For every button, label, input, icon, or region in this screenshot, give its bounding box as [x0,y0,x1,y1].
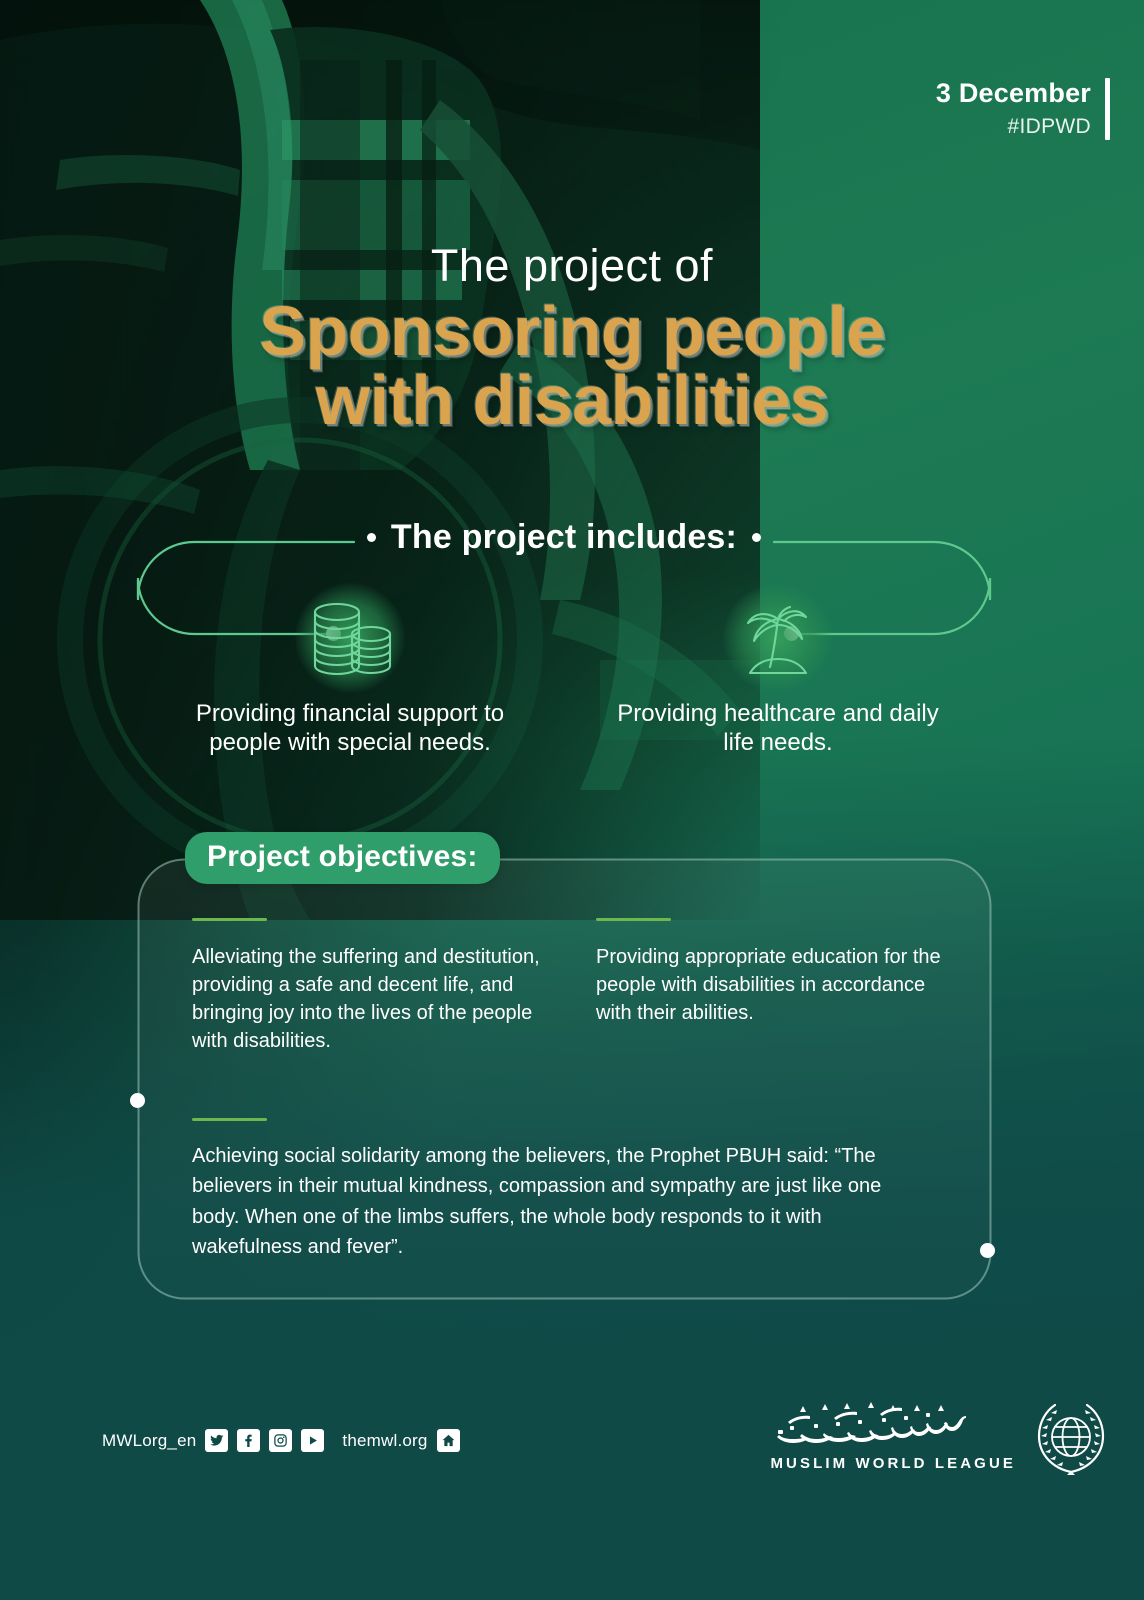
includes-heading: The project includes: [136,518,992,557]
objective-text: Achieving social solidarity among the be… [192,1141,904,1263]
objective-rule [596,918,671,921]
globe-wreath-icon [1032,1398,1110,1476]
title-main-line1: Sponsoring people [259,292,884,370]
website-label[interactable]: themwl.org [342,1431,427,1451]
objectives-node-dot-right [980,1243,995,1258]
instagram-icon[interactable] [269,1429,292,1452]
bullet-dot-left-icon [367,533,376,542]
date-divider-bar [1105,78,1110,140]
mwl-arabic-wordmark-icon [770,1402,970,1448]
includes-item-financial: Providing financial support to people wi… [136,590,564,758]
coins-icon [302,595,398,681]
includes-items: Providing financial support to people wi… [136,590,992,758]
mwl-english-wordmark: MUSLIM WORLD LEAGUE [770,1455,1016,1472]
title-pre: The project of [0,243,1144,288]
objective-rule [192,918,267,921]
page-title: The project of Sponsoring people with di… [0,243,1144,434]
footer-social-bar: MWLorg_en themwl.org [102,1429,460,1452]
includes-heading-label: The project includes: [391,518,737,557]
title-main-line2: with disabilities [0,366,1144,435]
date-label: 3 December [936,78,1091,109]
social-handle-label: MWLorg_en [102,1431,196,1451]
mwl-logo-text: MUSLIM WORLD LEAGUE [770,1402,1016,1472]
hashtag-label: #IDPWD [936,113,1091,140]
includes-item-healthcare: Providing healthcare and daily life need… [564,590,992,758]
title-main: Sponsoring people with disabilities [0,297,1144,434]
objective-text: Alleviating the suffering and destitutio… [192,943,548,1055]
palm-tree-icon [732,595,824,681]
youtube-icon[interactable] [301,1429,324,1452]
includes-item-label: Providing financial support to people wi… [185,699,515,758]
facebook-icon[interactable] [237,1429,260,1452]
coins-icon-holder [290,590,410,685]
palm-tree-icon-holder [718,590,838,685]
mwl-logo: MUSLIM WORLD LEAGUE [770,1398,1110,1476]
objective-item-2: Providing appropriate education for the … [596,918,952,1055]
objectives-badge: Project objectives: [185,832,500,884]
poster-root: 3 December #IDPWD The project of Sponsor… [0,0,1144,1600]
twitter-icon[interactable] [205,1429,228,1452]
objectives-node-dot-left [130,1093,145,1108]
bullet-dot-right-icon [752,533,761,542]
date-text: 3 December #IDPWD [936,78,1091,140]
date-block: 3 December #IDPWD [936,78,1110,140]
objective-item-3: Achieving social solidarity among the be… [192,1118,904,1263]
background-photo [0,0,760,920]
includes-item-label: Providing healthcare and daily life need… [613,699,943,758]
objective-text: Providing appropriate education for the … [596,943,952,1027]
objective-item-1: Alleviating the suffering and destitutio… [192,918,548,1055]
home-icon[interactable] [437,1429,460,1452]
objective-rule [192,1118,267,1121]
objectives-grid: Alleviating the suffering and destitutio… [192,918,952,1055]
